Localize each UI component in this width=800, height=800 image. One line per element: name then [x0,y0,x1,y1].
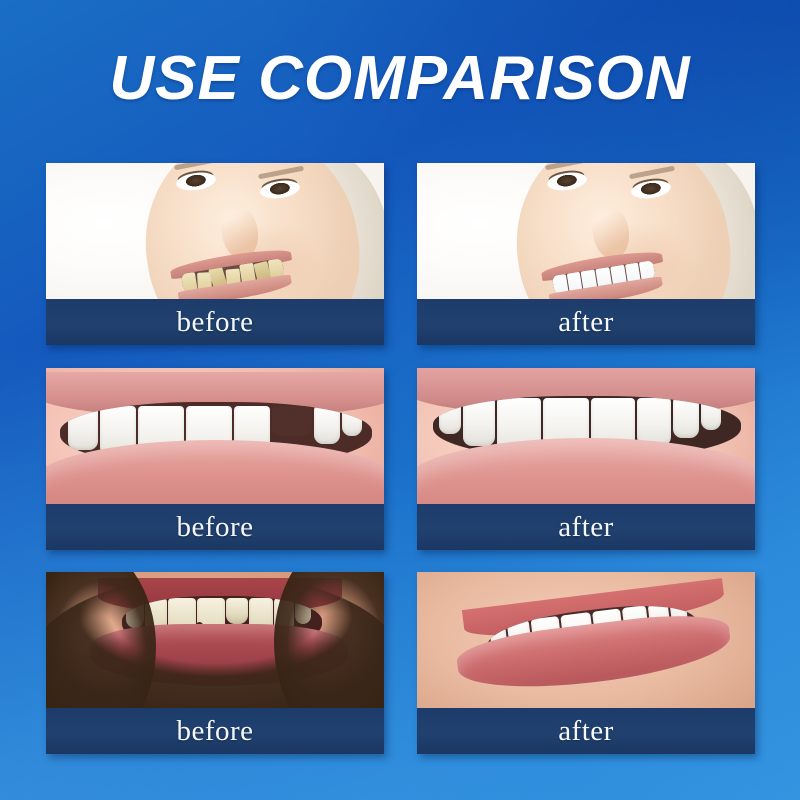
lower-lip [46,440,384,504]
bearded-man-damaged-teeth-image [46,572,384,708]
label-band-row1-before: before [46,299,384,345]
label-text: before [176,308,253,337]
photo-row3-after [417,572,755,708]
clean-shaven-white-teeth-image [417,572,755,708]
card-row2-after[interactable]: after [417,368,755,550]
label-text: after [558,308,614,337]
card-row2-before[interactable]: before [46,368,384,550]
smile-complete-teeth-image [417,368,755,504]
label-text: before [176,717,253,746]
card-row1-before[interactable]: before [46,163,384,345]
card-row3-before[interactable]: before [46,572,384,754]
beard-left-side [46,572,156,708]
lower-lip [417,438,755,504]
use-comparison-poster: USE COMPARISON [0,0,800,800]
label-band-row3-before: before [46,708,384,754]
label-band-row1-after: after [417,299,755,345]
photo-row2-before [46,368,384,504]
comparison-row-2: before [46,368,755,550]
card-row1-after[interactable]: after [417,163,755,345]
card-row3-after[interactable]: after [417,572,755,754]
label-band-row3-after: after [417,708,755,754]
photo-row3-before [46,572,384,708]
comparison-row-3: before [46,572,755,754]
label-text: after [558,717,614,746]
beard-right-side [274,572,384,708]
photo-row2-after [417,368,755,504]
comparison-row-1: before [46,163,755,345]
photo-row1-after [417,163,755,299]
woman-face-crooked-teeth-image [46,163,384,299]
label-band-row2-after: after [417,504,755,550]
label-band-row2-before: before [46,504,384,550]
comparison-grid: before [46,163,755,745]
photo-row1-before [46,163,384,299]
smile-missing-tooth-image [46,368,384,504]
label-text: before [176,513,253,542]
woman-face-white-teeth-image [417,163,755,299]
label-text: after [558,513,614,542]
page-title: USE COMPARISON [0,48,800,110]
